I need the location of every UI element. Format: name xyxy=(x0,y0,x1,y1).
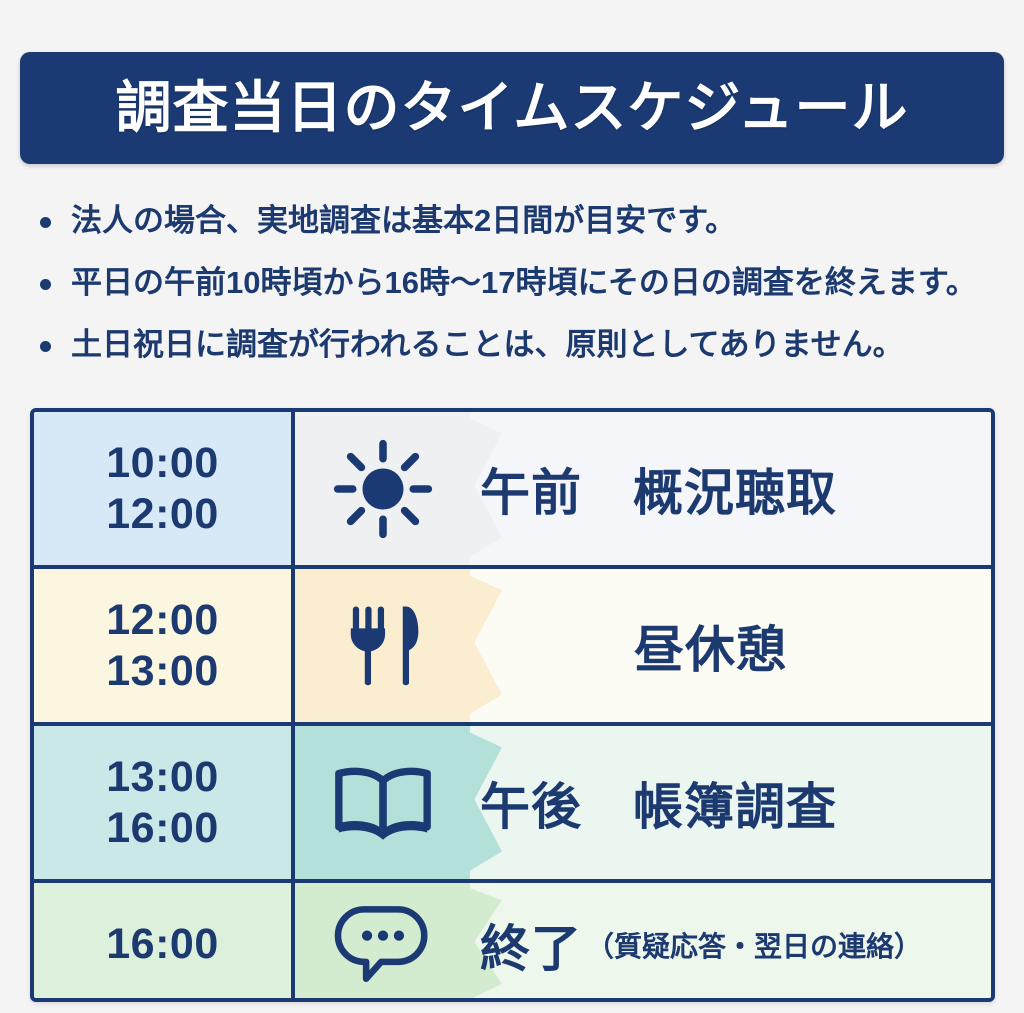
time-end: 16:00 xyxy=(106,803,218,853)
time-start: 16:00 xyxy=(106,919,218,969)
note-text: 土日祝日に調査が行われることは、原則としてありません。 xyxy=(71,324,904,366)
schedule-table: 10:00 12:00 xyxy=(30,408,995,1002)
label-box: 午後 帳簿調査 xyxy=(470,767,991,839)
list-item: 土日祝日に調査が行われることは、原則としてありません。 xyxy=(40,324,1010,366)
list-item: 平日の午前10時頃から16時〜17時頃にその日の調査を終えます。 xyxy=(40,262,1010,304)
speech-bubble-icon xyxy=(295,900,470,990)
row-label: 終了 xyxy=(480,909,582,981)
table-row: 12:00 13:00 xyxy=(34,569,991,726)
bullet-dot-icon xyxy=(40,279,51,290)
page-title: 調査当日のタイムスケジュール xyxy=(116,80,909,136)
row-label: 午後 帳簿調査 xyxy=(480,767,837,839)
sun-icon xyxy=(295,435,470,543)
bullet-dot-icon xyxy=(40,217,51,228)
open-book-icon xyxy=(295,757,470,849)
time-end: 13:00 xyxy=(106,646,218,696)
bullet-dot-icon xyxy=(40,341,51,352)
content-cell: 昼休憩 xyxy=(295,569,991,722)
label-box: 午前 概況聴取 xyxy=(470,453,991,525)
time-cell: 12:00 13:00 xyxy=(34,569,295,722)
table-row: 13:00 16:00 午後 帳簿調査 xyxy=(34,726,991,883)
fork-knife-icon xyxy=(295,594,470,698)
time-cell: 10:00 12:00 xyxy=(34,412,295,565)
note-text: 法人の場合、実地調査は基本2日間が目安です。 xyxy=(71,200,736,242)
time-end: 12:00 xyxy=(106,489,218,539)
label-box: 昼休憩 xyxy=(470,610,991,682)
label-box: 終了 （質疑応答・翌日の連絡） xyxy=(470,909,991,981)
row-label-sub: （質疑応答・翌日の連絡） xyxy=(586,925,922,965)
time-cell: 13:00 16:00 xyxy=(34,726,295,879)
note-text: 平日の午前10時頃から16時〜17時頃にその日の調査を終えます。 xyxy=(71,262,977,304)
content-cell: 午後 帳簿調査 xyxy=(295,726,991,879)
table-row: 10:00 12:00 xyxy=(34,412,991,569)
time-start: 13:00 xyxy=(106,752,218,802)
content-cell: 午前 概況聴取 xyxy=(295,412,991,565)
header-banner: 調査当日のタイムスケジュール xyxy=(20,52,1004,164)
time-cell: 16:00 xyxy=(34,883,295,1002)
row-label: 午前 概況聴取 xyxy=(480,453,837,525)
table-row: 16:00 終了 （質疑応答・翌日の連絡） xyxy=(34,883,991,1002)
list-item: 法人の場合、実地調査は基本2日間が目安です。 xyxy=(40,200,1010,242)
time-start: 10:00 xyxy=(106,438,218,488)
row-label: 昼休憩 xyxy=(634,610,787,682)
notes-list: 法人の場合、実地調査は基本2日間が目安です。 平日の午前10時頃から16時〜17… xyxy=(40,200,1010,386)
time-start: 12:00 xyxy=(106,595,218,645)
content-cell: 終了 （質疑応答・翌日の連絡） xyxy=(295,883,991,1002)
